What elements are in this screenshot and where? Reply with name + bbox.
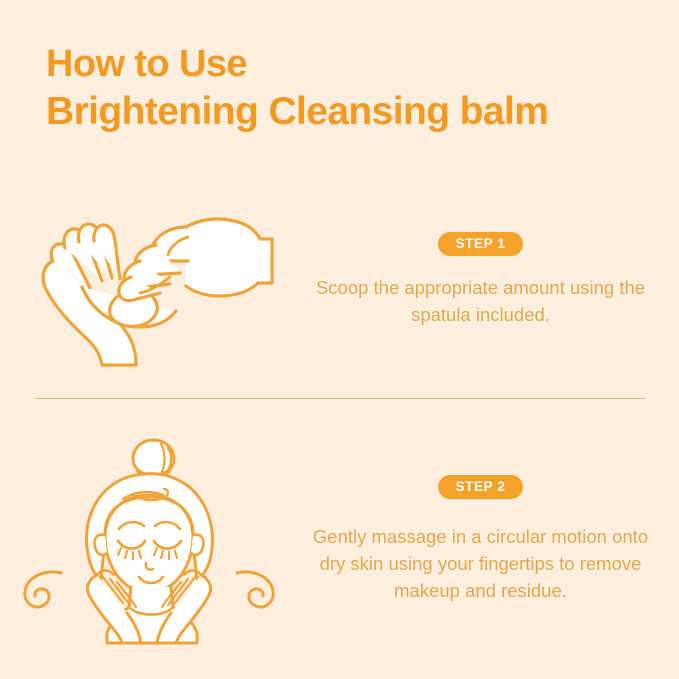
step-2-description: Gently massage in a circular motion onto… — [308, 523, 653, 604]
step-1-illustration-container — [0, 193, 300, 368]
step-2-row: STEP 2 Gently massage in a circular moti… — [0, 432, 679, 647]
step-1-text-container: STEP 1 Scoop the appropriate amount usin… — [300, 232, 679, 329]
woman-massaging-face-icon — [15, 435, 285, 645]
step-2-text-container: STEP 2 Gently massage in a circular moti… — [300, 475, 679, 605]
step-1-description: Scoop the appropriate amount using the s… — [316, 274, 646, 328]
step-1-row: STEP 1 Scoop the appropriate amount usin… — [0, 180, 679, 380]
title-line-1: How to Use — [46, 40, 646, 88]
title-line-2: Brightening Cleansing balm — [46, 88, 646, 136]
step-1-badge: STEP 1 — [438, 232, 524, 257]
swirl-left-icon — [25, 571, 61, 606]
section-divider — [35, 398, 645, 399]
page-title: How to Use Brightening Cleansing balm — [46, 40, 646, 136]
hands-with-spatula-icon — [20, 193, 280, 368]
step-2-illustration-container — [0, 435, 300, 645]
step-2-badge: STEP 2 — [438, 475, 524, 500]
how-to-use-infographic: How to Use Brightening Cleansing balm — [0, 0, 679, 679]
swirl-right-icon — [237, 571, 273, 606]
